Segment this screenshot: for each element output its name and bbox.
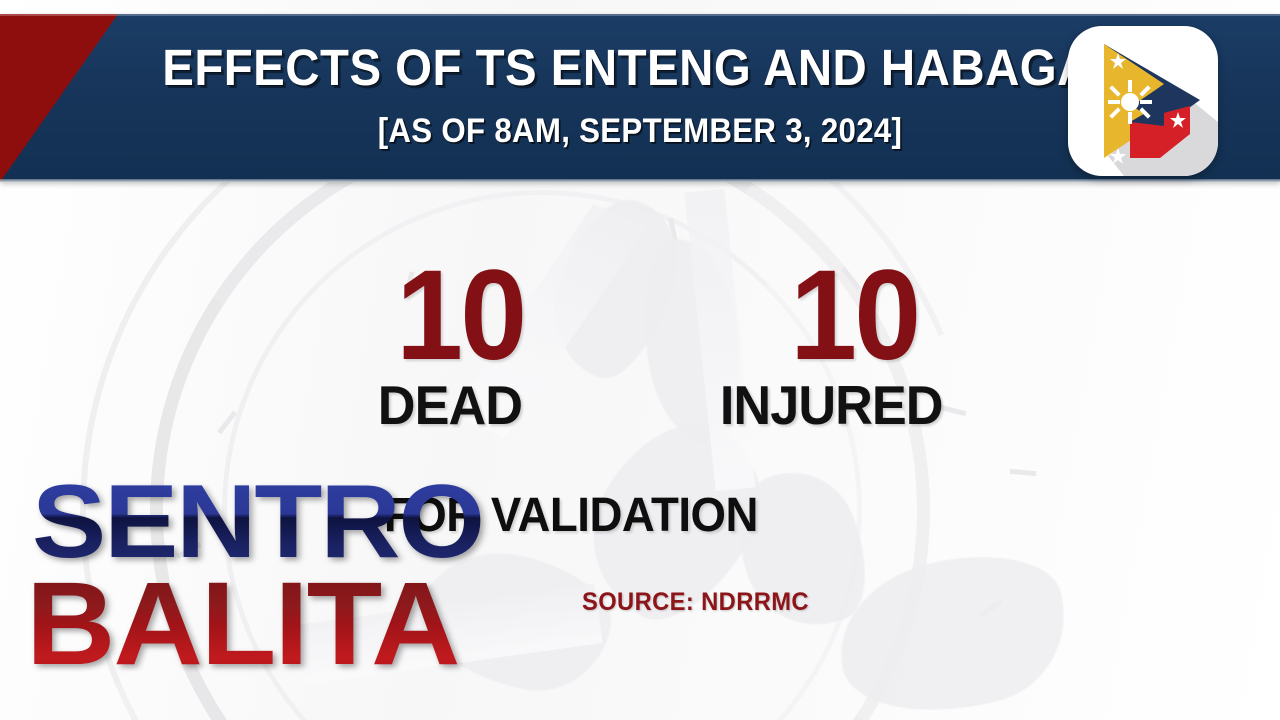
banner-red-corner-accent <box>0 14 118 182</box>
source-attribution: SOURCE: NDRRMC <box>582 590 809 615</box>
banner-title: EFFECTS OF TS ENTENG AND HABAGAT <box>45 42 1235 93</box>
show-logo-line-balita: BALITA <box>26 565 458 683</box>
ptv-network-logo <box>1068 26 1218 176</box>
philippine-flag-play-icon <box>1068 26 1218 176</box>
stat-label-injured: INJURED <box>720 378 943 433</box>
stat-label-dead: DEAD <box>378 378 522 433</box>
banner-top-highlight <box>0 14 1280 16</box>
stat-value-injured: 10 <box>790 252 918 380</box>
sentro-balita-show-logo: SENTRO BALITA <box>26 470 586 700</box>
stat-value-dead: 10 <box>396 252 524 380</box>
banner-subtitle: [AS OF 8AM, SEPTEMBER 3, 2024] <box>51 114 1229 148</box>
broadcast-graphic-screen: EFFECTS OF TS ENTENG AND HABAGAT [AS OF … <box>0 0 1280 720</box>
